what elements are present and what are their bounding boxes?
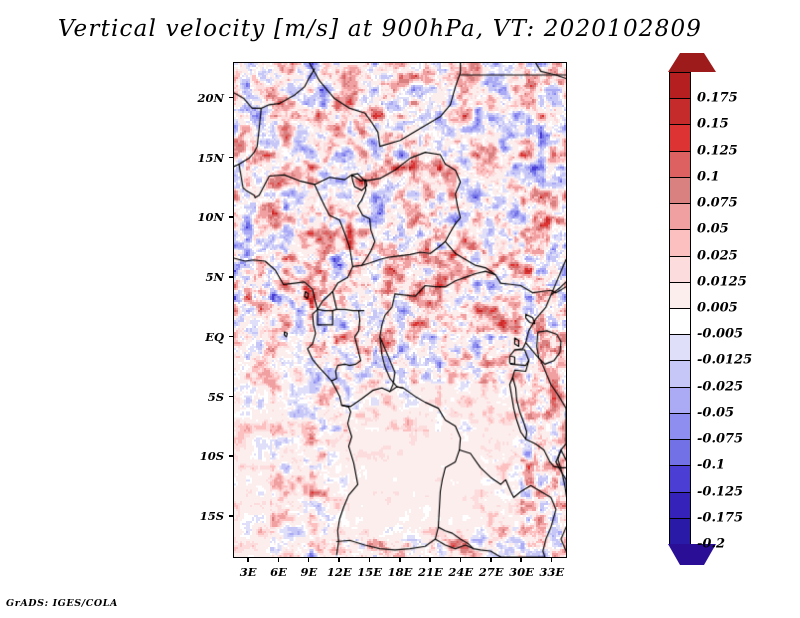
colorbar-tick-label: -0.125 <box>697 484 743 499</box>
colorbar-tick-label: 0.05 <box>697 222 729 237</box>
colorbar-swatch <box>669 439 691 467</box>
colorbar-tick-label: -0.05 <box>697 405 734 420</box>
colorbar-tick-label: 0.175 <box>697 91 738 106</box>
colorbar-tick-label: -0.075 <box>697 432 743 447</box>
colorbar-swatch <box>669 360 691 388</box>
colorbar-swatch <box>669 229 691 257</box>
x-axis-tick <box>278 557 280 562</box>
colorbar-swatch <box>669 72 691 100</box>
colorbar-swatch <box>669 518 691 546</box>
y-axis-tick <box>229 276 234 278</box>
colorbar-over-arrow-icon <box>668 53 716 72</box>
x-axis-tick <box>338 557 340 562</box>
colorbar-swatch <box>669 98 691 126</box>
colorbar-swatch <box>669 256 691 284</box>
x-axis-tick <box>520 557 522 562</box>
colorbar-tick-label: -0.0125 <box>697 353 752 368</box>
y-axis-tick <box>229 396 234 398</box>
x-axis-label: 33E <box>532 565 572 579</box>
y-axis-label: EQ <box>205 330 224 344</box>
x-axis-tick <box>308 557 310 562</box>
y-axis-tick <box>229 515 234 517</box>
x-axis-tick <box>247 557 249 562</box>
colorbar-swatch <box>669 308 691 336</box>
y-axis-label: 20N <box>197 91 224 105</box>
colorbar-swatch <box>669 465 691 493</box>
x-axis-tick <box>399 557 401 562</box>
colorbar-tick-label: 0.025 <box>697 248 738 263</box>
x-axis-tick <box>429 557 431 562</box>
x-axis-tick <box>490 557 492 562</box>
colorbar-swatch <box>669 413 691 441</box>
colorbar-tick-label: 0.0125 <box>697 274 747 289</box>
colorbar-swatch <box>669 203 691 231</box>
colorbar-swatch <box>669 334 691 362</box>
colorbar: 0.1750.150.1250.10.0750.050.0250.01250.0… <box>669 72 691 544</box>
colorbar-tick-label: -0.025 <box>697 379 743 394</box>
colorbar-tick-label: -0.005 <box>697 327 743 342</box>
colorbar-tick-label: 0.1 <box>697 169 720 184</box>
colorbar-swatch <box>669 177 691 205</box>
y-axis-label: 5S <box>208 390 224 404</box>
x-axis-tick <box>551 557 553 562</box>
y-axis-tick <box>229 455 234 457</box>
colorbar-tick-label: 0.15 <box>697 117 729 132</box>
colorbar-tick-label: 0.125 <box>697 143 738 158</box>
colorbar-tick-label: -0.175 <box>697 510 743 525</box>
y-axis-tick <box>229 336 234 338</box>
colorbar-swatch <box>669 124 691 152</box>
coastline-border-overlay <box>234 63 566 557</box>
y-axis-label: 10N <box>197 210 224 224</box>
colorbar-tick-label: -0.2 <box>697 537 725 552</box>
map-plot-area <box>233 62 567 558</box>
colorbar-tick-label: 0.075 <box>697 196 738 211</box>
y-axis-label: 5N <box>205 270 224 284</box>
x-axis-tick <box>460 557 462 562</box>
y-axis-tick <box>229 216 234 218</box>
colorbar-swatch <box>669 492 691 520</box>
colorbar-tick-label: -0.1 <box>697 458 725 473</box>
colorbar-tick-label: 0.005 <box>697 301 738 316</box>
colorbar-swatch <box>669 151 691 179</box>
y-axis-label: 15S <box>200 509 224 523</box>
page-title: Vertical velocity [m/s] at 900hPa, VT: 2… <box>0 16 760 42</box>
colorbar-swatch <box>669 282 691 310</box>
y-axis-label: 15N <box>197 151 224 165</box>
colorbar-swatch <box>669 387 691 415</box>
x-axis-tick <box>369 557 371 562</box>
y-axis-tick <box>229 157 234 159</box>
y-axis-label: 10S <box>200 449 224 463</box>
y-axis-tick <box>229 97 234 99</box>
grads-credit: GrADS: IGES/COLA <box>6 598 118 609</box>
